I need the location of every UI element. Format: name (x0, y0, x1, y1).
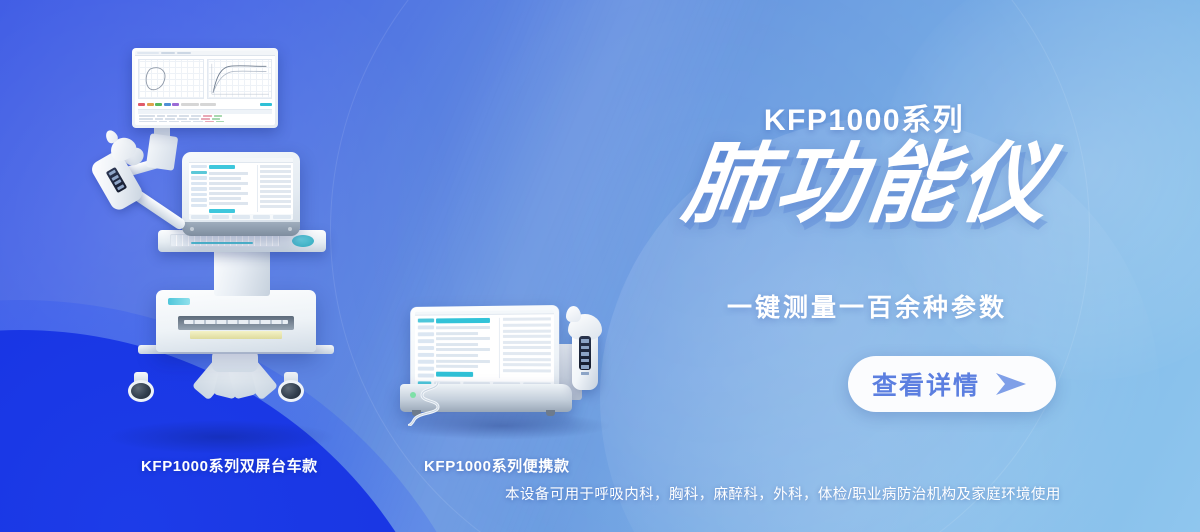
view-details-button[interactable]: 查看详情 (848, 356, 1056, 412)
caster-wheel-icon (278, 372, 304, 402)
volume-time-chart (207, 59, 273, 99)
touchscreen-icon (182, 152, 300, 236)
results-table (138, 109, 272, 122)
tabletop-screen-icon (410, 305, 559, 393)
product-cart-unit (92, 42, 332, 452)
mouse-pad-icon (292, 235, 314, 247)
monitor-icon (132, 48, 278, 128)
product-banner: KFP1000系列双屏台车款 KFP1000系列便携款 KFP1000系列 肺功… (0, 0, 1200, 532)
caster-wheel-icon (128, 372, 154, 402)
product-portable-unit (398, 300, 630, 432)
flow-volume-loop-chart (138, 59, 204, 99)
usage-footnote: 本设备可用于呼吸内科，胸科，麻醉科，外科，体检/职业病防治机构及家庭环境使用 (505, 483, 1061, 504)
copy-block: KFP1000系列 肺功能仪 一键测量一百余种参数 查看详情 (640, 0, 1200, 532)
view-details-label: 查看详情 (872, 366, 980, 402)
caption-cart: KFP1000系列双屏台车款 (141, 455, 318, 476)
cart-column (214, 248, 270, 296)
handheld-spirometer-icon (564, 306, 606, 398)
product-series-label: KFP1000系列 (640, 95, 1088, 139)
handheld-display (579, 336, 591, 370)
portable-foot (546, 410, 555, 416)
arrow-right-icon (992, 371, 1032, 397)
printer-icon (156, 290, 316, 352)
page-title: 肺功能仪 (635, 140, 1102, 228)
mouthpiece-icon (566, 306, 581, 322)
monitor-arm (146, 133, 178, 171)
coiled-cable-icon (408, 382, 448, 426)
tagline: 一键测量一百余种参数 (640, 288, 1094, 324)
caption-portable: KFP1000系列便携款 (424, 455, 570, 476)
